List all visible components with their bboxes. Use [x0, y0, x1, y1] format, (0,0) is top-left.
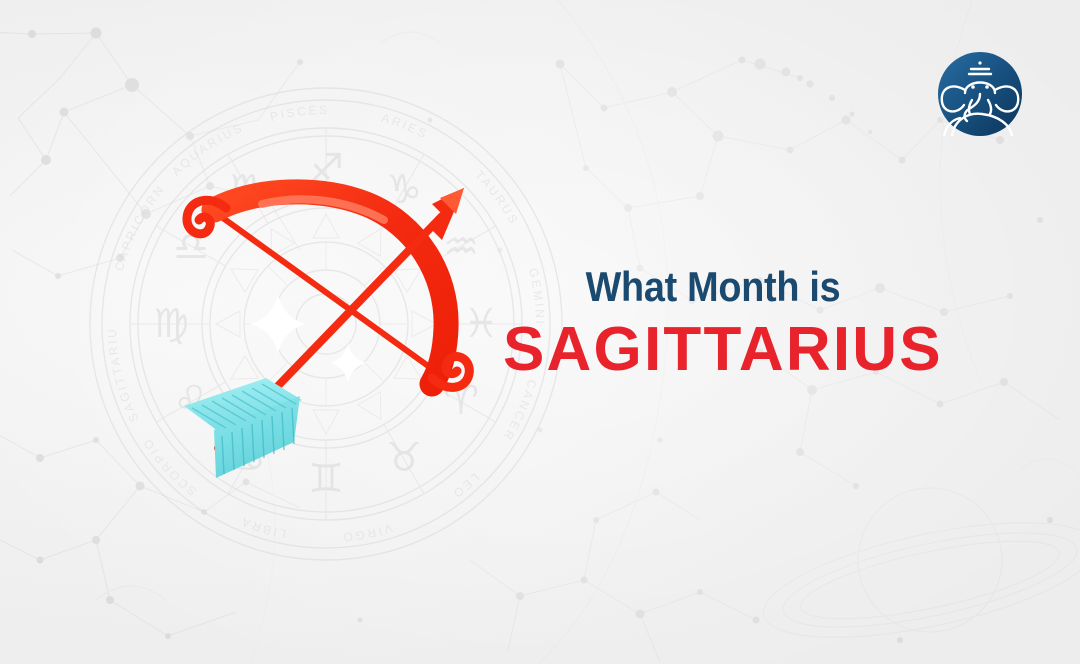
sparkle-icon — [330, 344, 366, 382]
svg-text:LIBRA: LIBRA — [237, 514, 287, 542]
sparkle-icon — [250, 294, 306, 354]
svg-text:CANCER: CANCER — [500, 378, 540, 444]
svg-text:CAPRICORN: CAPRICORN — [112, 181, 168, 272]
sagittarius-bow-and-arrow-icon — [170, 178, 500, 483]
sagittarius-banner: CAPRICORN AQUARIUS PISCES ARIES TAURUS G… — [0, 0, 1080, 664]
headline-line-1: What Month is — [524, 262, 902, 312]
svg-text:ARIES: ARIES — [380, 111, 431, 142]
ganesha-logo[interactable] — [938, 52, 1022, 136]
headline-block: What Month is SAGITTARIUS — [503, 262, 923, 384]
svg-text:VIRGO: VIRGO — [340, 521, 394, 545]
svg-text:PISCES: PISCES — [269, 103, 330, 124]
headline-line-2: SAGITTARIUS — [503, 316, 923, 384]
arrow-fletching — [184, 378, 302, 478]
